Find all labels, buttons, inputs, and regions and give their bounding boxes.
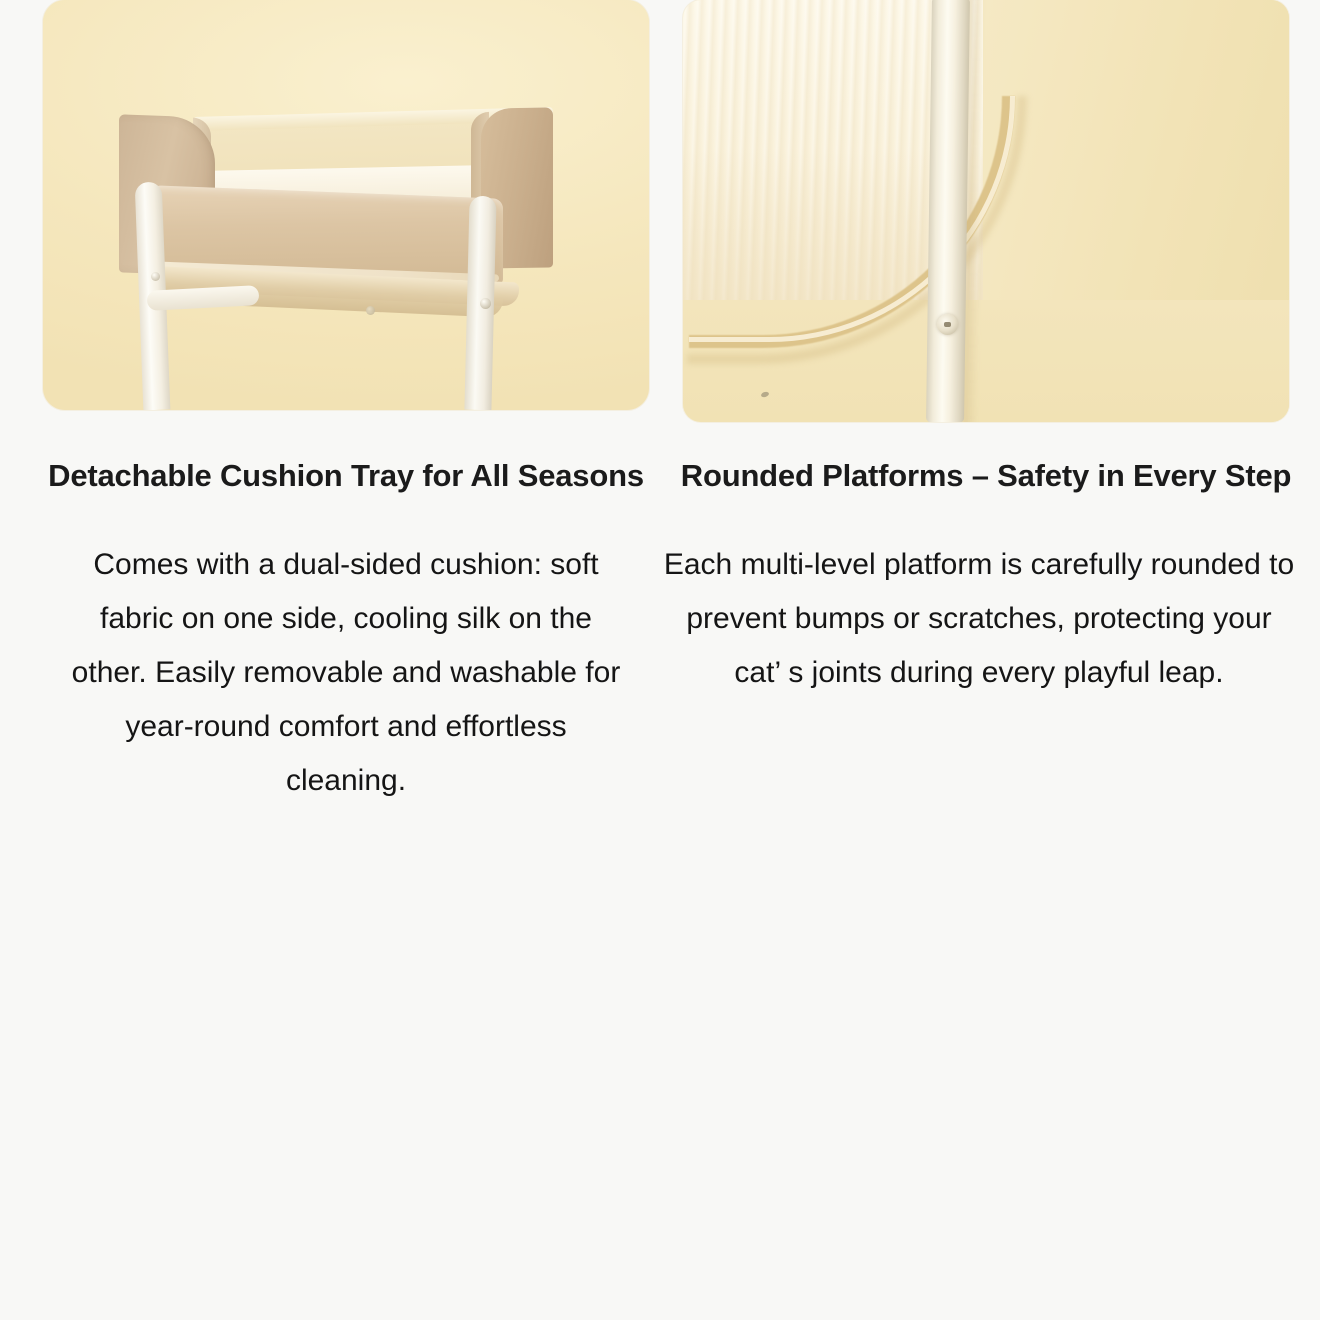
product-photo-rounded-platform[interactable] bbox=[683, 0, 1289, 422]
rounded-platform-illustration bbox=[683, 0, 1289, 422]
feature-heading-cushion-tray: Detachable Cushion Tray for All Seasons bbox=[48, 458, 644, 494]
feature-grid: Detachable Cushion Tray for All Seasons … bbox=[0, 0, 1320, 808]
screw-icon bbox=[151, 272, 160, 281]
feature-body-cushion-tray: Comes with a dual-sided cushion: soft fa… bbox=[66, 538, 626, 808]
cushion-tray-illustration bbox=[43, 0, 649, 410]
screw-icon bbox=[937, 314, 958, 335]
product-photo-cushion-tray[interactable] bbox=[43, 0, 649, 410]
feature-body-rounded-platforms: Each multi-level platform is carefully r… bbox=[659, 538, 1299, 700]
screw-icon bbox=[480, 298, 491, 309]
feature-heading-rounded-platforms: Rounded Platforms – Safety in Every Step bbox=[681, 458, 1291, 494]
vertical-support-post bbox=[926, 0, 970, 422]
feature-column-cushion-tray: Detachable Cushion Tray for All Seasons … bbox=[42, 0, 650, 808]
infographic-page: Detachable Cushion Tray for All Seasons … bbox=[0, 0, 1320, 1320]
screw-icon bbox=[366, 306, 375, 315]
feature-column-rounded-platforms: Rounded Platforms – Safety in Every Step… bbox=[682, 0, 1290, 808]
